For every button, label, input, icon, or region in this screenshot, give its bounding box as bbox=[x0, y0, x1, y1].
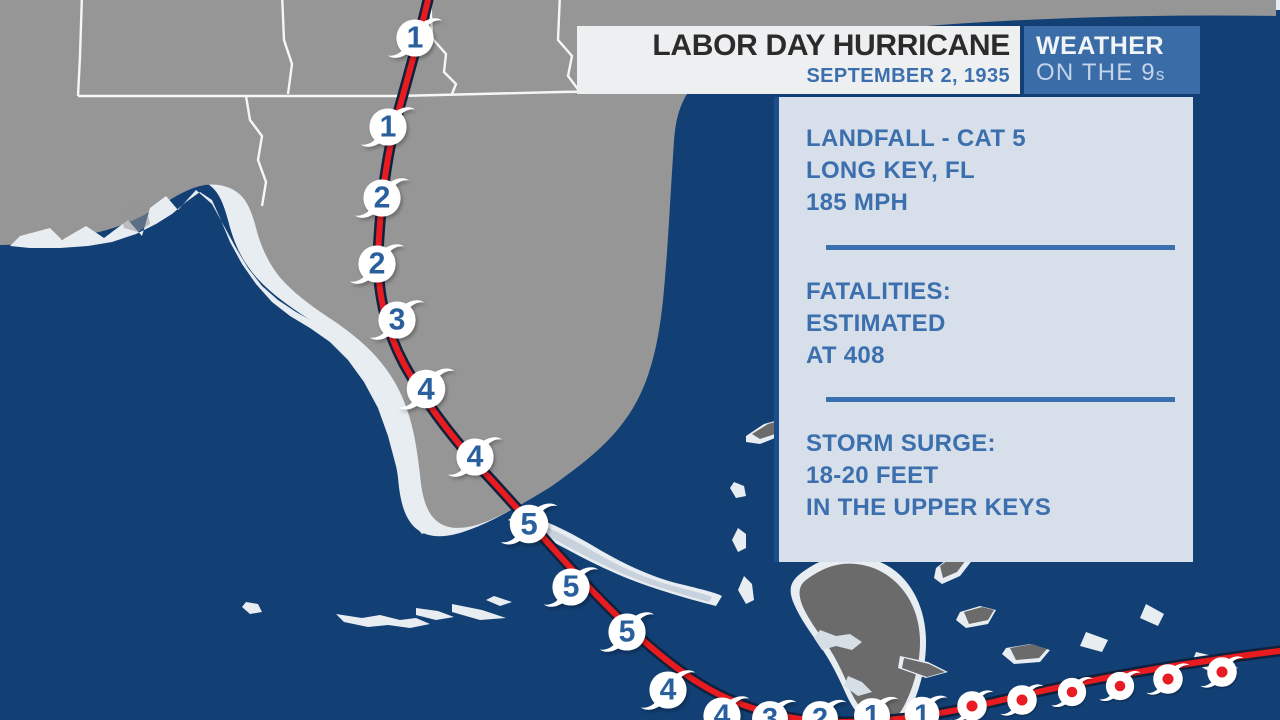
storm-info-panel: LANDFALL - CAT 5LONG KEY, FL185 MPHFATAL… bbox=[774, 97, 1193, 562]
storm-center-dot bbox=[1067, 687, 1078, 698]
marker-category-label: 4 bbox=[660, 674, 677, 707]
storm-center-dot bbox=[1216, 666, 1227, 677]
brand-logo: WEATHER ON THE 9s bbox=[1024, 26, 1200, 94]
info-line: AT 408 bbox=[806, 340, 1193, 372]
marker-category-label: 4 bbox=[714, 700, 731, 720]
marker-category-label: 5 bbox=[563, 571, 580, 604]
marker-category-label: 4 bbox=[417, 372, 435, 407]
info-line: 185 MPH bbox=[806, 187, 1193, 219]
storm-center-dot bbox=[1115, 681, 1126, 692]
info-line: LONG KEY, FL bbox=[806, 155, 1193, 187]
info-line: FATALITIES: bbox=[806, 276, 1193, 308]
title-bar: LABOR DAY HURRICANE SEPTEMBER 2, 1935 bbox=[577, 26, 1020, 94]
brand-line-1: WEATHER bbox=[1036, 34, 1200, 59]
title-date: SEPTEMBER 2, 1935 bbox=[806, 64, 1010, 89]
brand-line-2-text: ON THE 9 bbox=[1036, 59, 1156, 86]
info-line: IN THE UPPER KEYS bbox=[806, 492, 1193, 524]
marker-category-label: 2 bbox=[812, 703, 828, 720]
marker-category-label: 1 bbox=[864, 700, 880, 720]
brand-line-2: ON THE 9s bbox=[1036, 60, 1200, 85]
info-divider bbox=[826, 245, 1175, 250]
marker-category-label: 5 bbox=[619, 616, 636, 649]
marker-category-label: 2 bbox=[374, 182, 391, 215]
page-title: LABOR DAY HURRICANE bbox=[652, 31, 1010, 61]
marker-category-label: 1 bbox=[407, 22, 424, 55]
storm-center-dot bbox=[1162, 673, 1173, 684]
marker-category-label: 2 bbox=[369, 248, 386, 281]
marker-category-label: 1 bbox=[914, 699, 930, 720]
info-line: 18-20 FEET bbox=[806, 460, 1193, 492]
storm-center-dot bbox=[966, 700, 977, 711]
marker-category-label: 1 bbox=[380, 111, 397, 144]
marker-category-label: 3 bbox=[762, 703, 778, 720]
marker-category-label: 3 bbox=[389, 304, 406, 337]
weather-graphic: 1122344555443211 LABOR DAY HURRICANE SEP… bbox=[0, 0, 1280, 720]
brand-line-2-suffix: s bbox=[1156, 65, 1166, 84]
info-line: LANDFALL - CAT 5 bbox=[806, 123, 1193, 155]
marker-category-label: 5 bbox=[520, 507, 537, 542]
storm-center-dot bbox=[1016, 694, 1027, 705]
info-divider bbox=[826, 397, 1175, 402]
info-line: STORM SURGE: bbox=[806, 428, 1193, 460]
info-line: ESTIMATED bbox=[806, 308, 1193, 340]
marker-category-label: 4 bbox=[467, 441, 484, 474]
